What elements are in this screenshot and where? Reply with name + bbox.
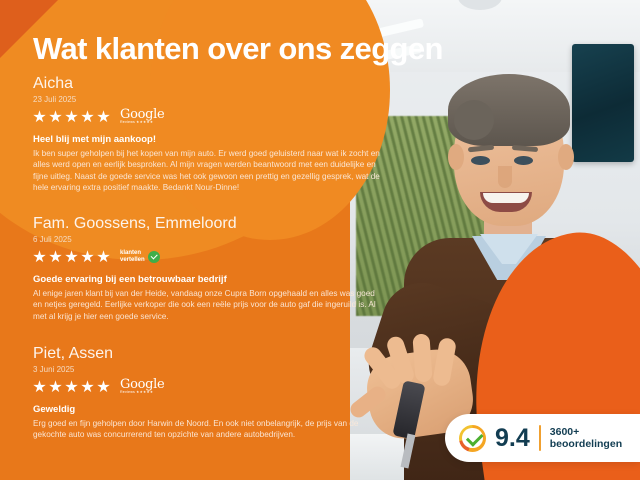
hair xyxy=(448,74,570,146)
star-icon xyxy=(33,110,46,123)
star-rating xyxy=(33,110,110,123)
star-icon xyxy=(81,110,94,123)
review-banner: Wat klanten over ons zeggen Aicha 23 Jul… xyxy=(0,0,640,480)
rating-score: 9.4 xyxy=(495,426,530,451)
reviewer-name: Aicha xyxy=(33,76,393,93)
star-rating xyxy=(33,250,110,263)
review-body: Erg goed en fijn geholpen door Harwin de… xyxy=(33,418,383,441)
star-icon xyxy=(81,250,94,263)
star-icon xyxy=(33,250,46,263)
review-item: Aicha 23 Juli 2025 Google Reviews ★★★★★ … xyxy=(33,76,393,193)
google-reviews-logo: Google Reviews ★★★★★ xyxy=(120,378,172,396)
review-meta-row: Google Reviews ★★★★★ xyxy=(33,108,393,126)
reviewer-name: Fam. Goossens, Emmeloord xyxy=(33,216,393,233)
badge-divider xyxy=(539,425,541,451)
page-title: Wat klanten over ons zeggen xyxy=(33,31,443,67)
star-rating xyxy=(33,380,110,393)
reviewer-name: Piet, Assen xyxy=(33,346,393,363)
star-icon xyxy=(49,110,62,123)
star-icon xyxy=(97,250,110,263)
review-date: 3 Juni 2025 xyxy=(33,365,393,374)
klantenvertellen-line2: vertellen xyxy=(120,257,145,264)
star-icon xyxy=(65,110,78,123)
klantenvertellen-line1: klanten xyxy=(120,250,145,257)
eye xyxy=(471,156,490,165)
rating-count: 3600+ xyxy=(550,426,622,439)
star-icon xyxy=(81,380,94,393)
klantenvertellen-shield-icon xyxy=(459,425,486,452)
rating-badge: 9.4 3600+ beoordelingen xyxy=(445,414,640,462)
ear xyxy=(558,144,574,170)
review-meta-row: Google Reviews ★★★★★ xyxy=(33,378,393,396)
rating-count-block: 3600+ beoordelingen xyxy=(550,426,622,451)
review-title: Geweldig xyxy=(33,404,393,415)
star-icon xyxy=(65,380,78,393)
review-title: Goede ervaring bij een betrouwbaar bedri… xyxy=(33,274,393,285)
star-icon xyxy=(65,250,78,263)
star-icon xyxy=(97,380,110,393)
rating-count-label: beoordelingen xyxy=(550,438,622,451)
klantenvertellen-wordmark: klanten vertellen xyxy=(120,250,145,263)
klantenvertellen-logo: klanten vertellen xyxy=(120,250,160,263)
check-circle-icon xyxy=(148,251,160,263)
star-icon xyxy=(49,250,62,263)
star-icon xyxy=(33,380,46,393)
star-icon xyxy=(97,110,110,123)
review-item: Fam. Goossens, Emmeloord 6 Juli 2025 kla… xyxy=(33,216,393,322)
google-reviews-sublabel: Reviews ★★★★★ xyxy=(120,390,172,394)
review-title: Heel blij met mijn aankoop! xyxy=(33,134,393,145)
nose xyxy=(498,166,512,188)
review-body: Al enige jaren klant bij van der Heide, … xyxy=(33,288,383,322)
review-date: 23 Juli 2025 xyxy=(33,95,393,104)
star-icon xyxy=(49,380,62,393)
review-item: Piet, Assen 3 Juni 2025 Google Reviews ★… xyxy=(33,346,393,441)
reviews-content: Wat klanten over ons zeggen Aicha 23 Jul… xyxy=(0,0,420,480)
google-reviews-sublabel: Reviews ★★★★★ xyxy=(120,120,172,124)
ear xyxy=(448,144,464,170)
review-date: 6 Juli 2025 xyxy=(33,235,393,244)
review-body: Ik ben super geholpen bij het kopen van … xyxy=(33,148,383,194)
review-meta-row: klanten vertellen xyxy=(33,248,393,266)
google-reviews-logo: Google Reviews ★★★★★ xyxy=(120,108,172,126)
teeth xyxy=(483,193,529,203)
eye xyxy=(514,156,533,165)
